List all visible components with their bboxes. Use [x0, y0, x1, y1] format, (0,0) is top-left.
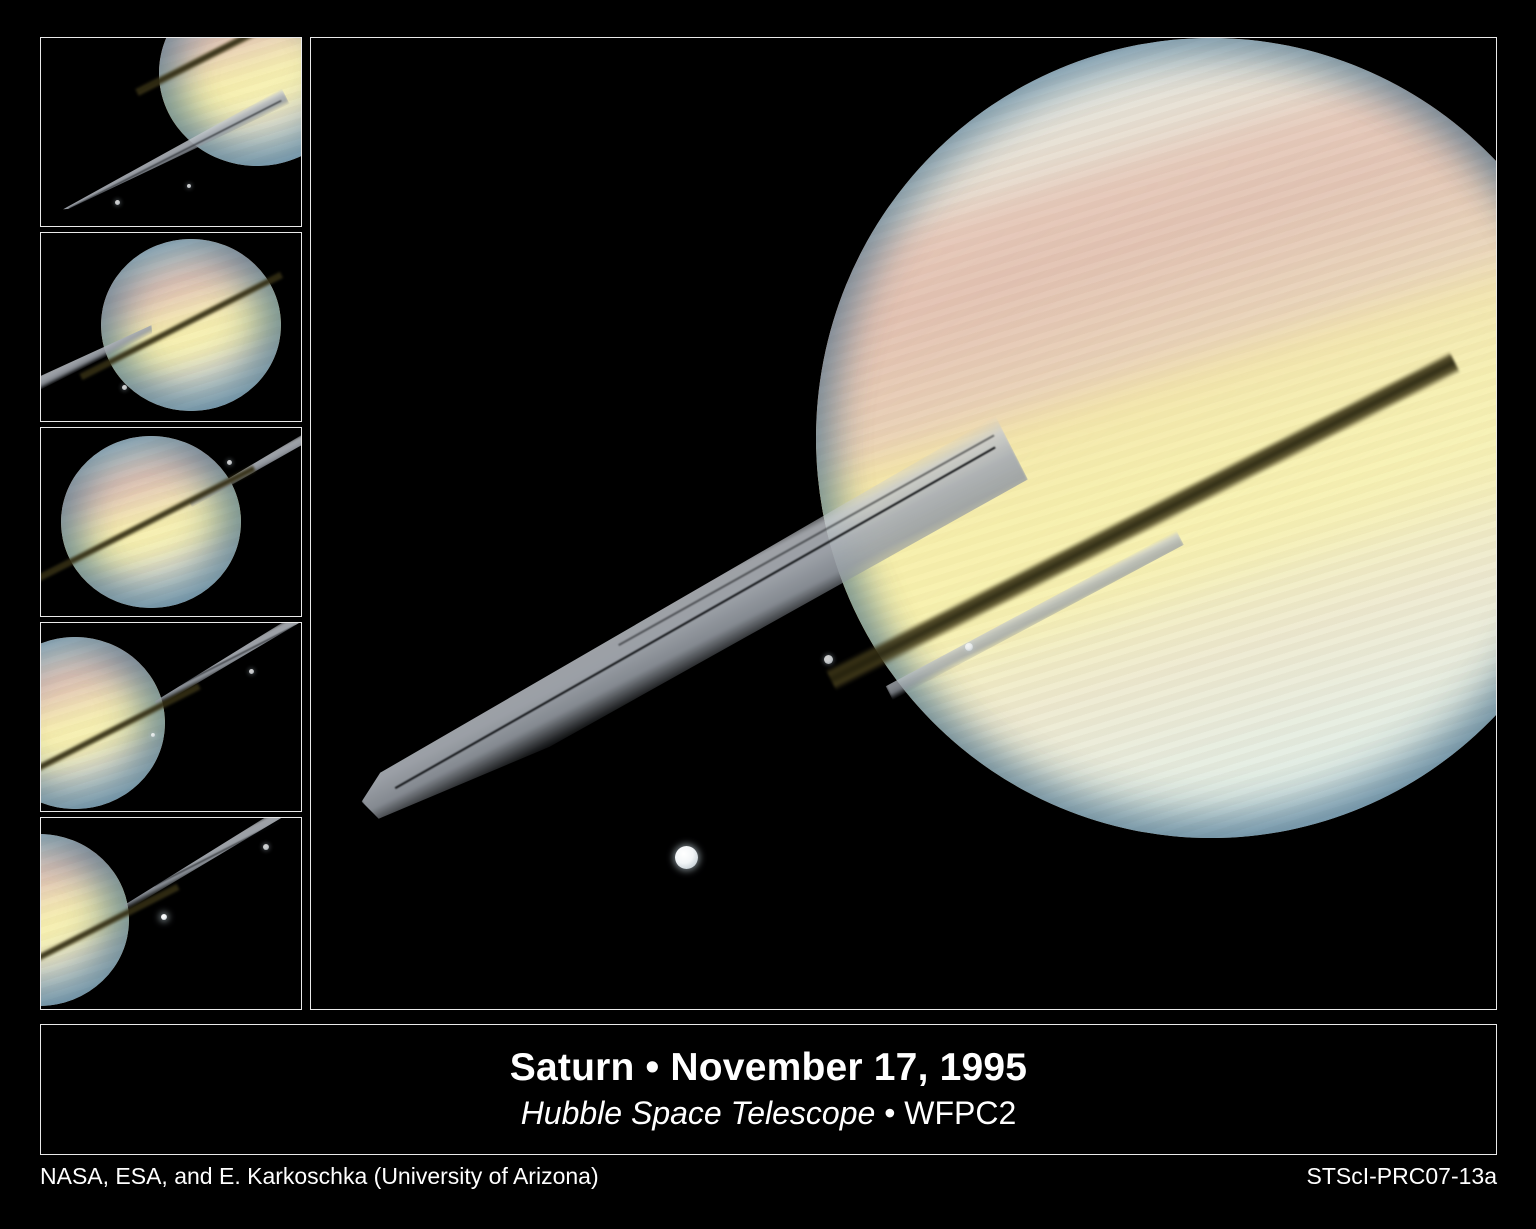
- moon: [115, 200, 120, 205]
- thumbnail-2-scene: [41, 233, 301, 421]
- release-id: STScI-PRC07-13a: [1307, 1163, 1497, 1190]
- moon: [122, 385, 127, 390]
- moon-small-left: [824, 655, 833, 664]
- moon: [249, 669, 254, 674]
- moon: [227, 460, 232, 465]
- moon: [151, 733, 155, 737]
- thumbnail-panel-2[interactable]: [40, 232, 302, 422]
- press-release-figure: Saturn • November 17, 1995 Hubble Space …: [0, 0, 1536, 1229]
- credit-text: NASA, ESA, and E. Karkoschka (University…: [40, 1163, 599, 1190]
- main-image-panel[interactable]: [310, 37, 1497, 1010]
- thumbnail-4-scene: [41, 623, 301, 811]
- thumbnail-panel-4[interactable]: [40, 622, 302, 812]
- thumbnail-panel-3[interactable]: [40, 427, 302, 617]
- thumbnail-panel-1[interactable]: [40, 37, 302, 227]
- caption-box: Saturn • November 17, 1995 Hubble Space …: [40, 1024, 1497, 1155]
- moon: [161, 914, 167, 920]
- moon: [263, 844, 269, 850]
- thumbnail-5-scene: [41, 818, 301, 1009]
- moon-bright: [675, 846, 698, 869]
- saturn-disk: [41, 637, 165, 809]
- caption-instrument-italic: Hubble Space Telescope: [521, 1095, 876, 1131]
- moon-small-on-disk: [965, 643, 973, 651]
- thumbnail-strip: [40, 37, 304, 1010]
- credit-row: NASA, ESA, and E. Karkoschka (University…: [40, 1163, 1497, 1197]
- caption-title: Saturn • November 17, 1995: [510, 1046, 1027, 1090]
- caption-separator: •: [875, 1095, 904, 1131]
- thumbnail-3-scene: [41, 428, 301, 616]
- thumbnail-1-scene: [41, 38, 301, 226]
- main-image-scene: [311, 38, 1496, 1009]
- moon: [187, 184, 191, 188]
- thumbnail-panel-5[interactable]: [40, 817, 302, 1010]
- caption-subtitle: Hubble Space Telescope • WFPC2: [521, 1095, 1017, 1133]
- caption-camera: WFPC2: [904, 1095, 1016, 1131]
